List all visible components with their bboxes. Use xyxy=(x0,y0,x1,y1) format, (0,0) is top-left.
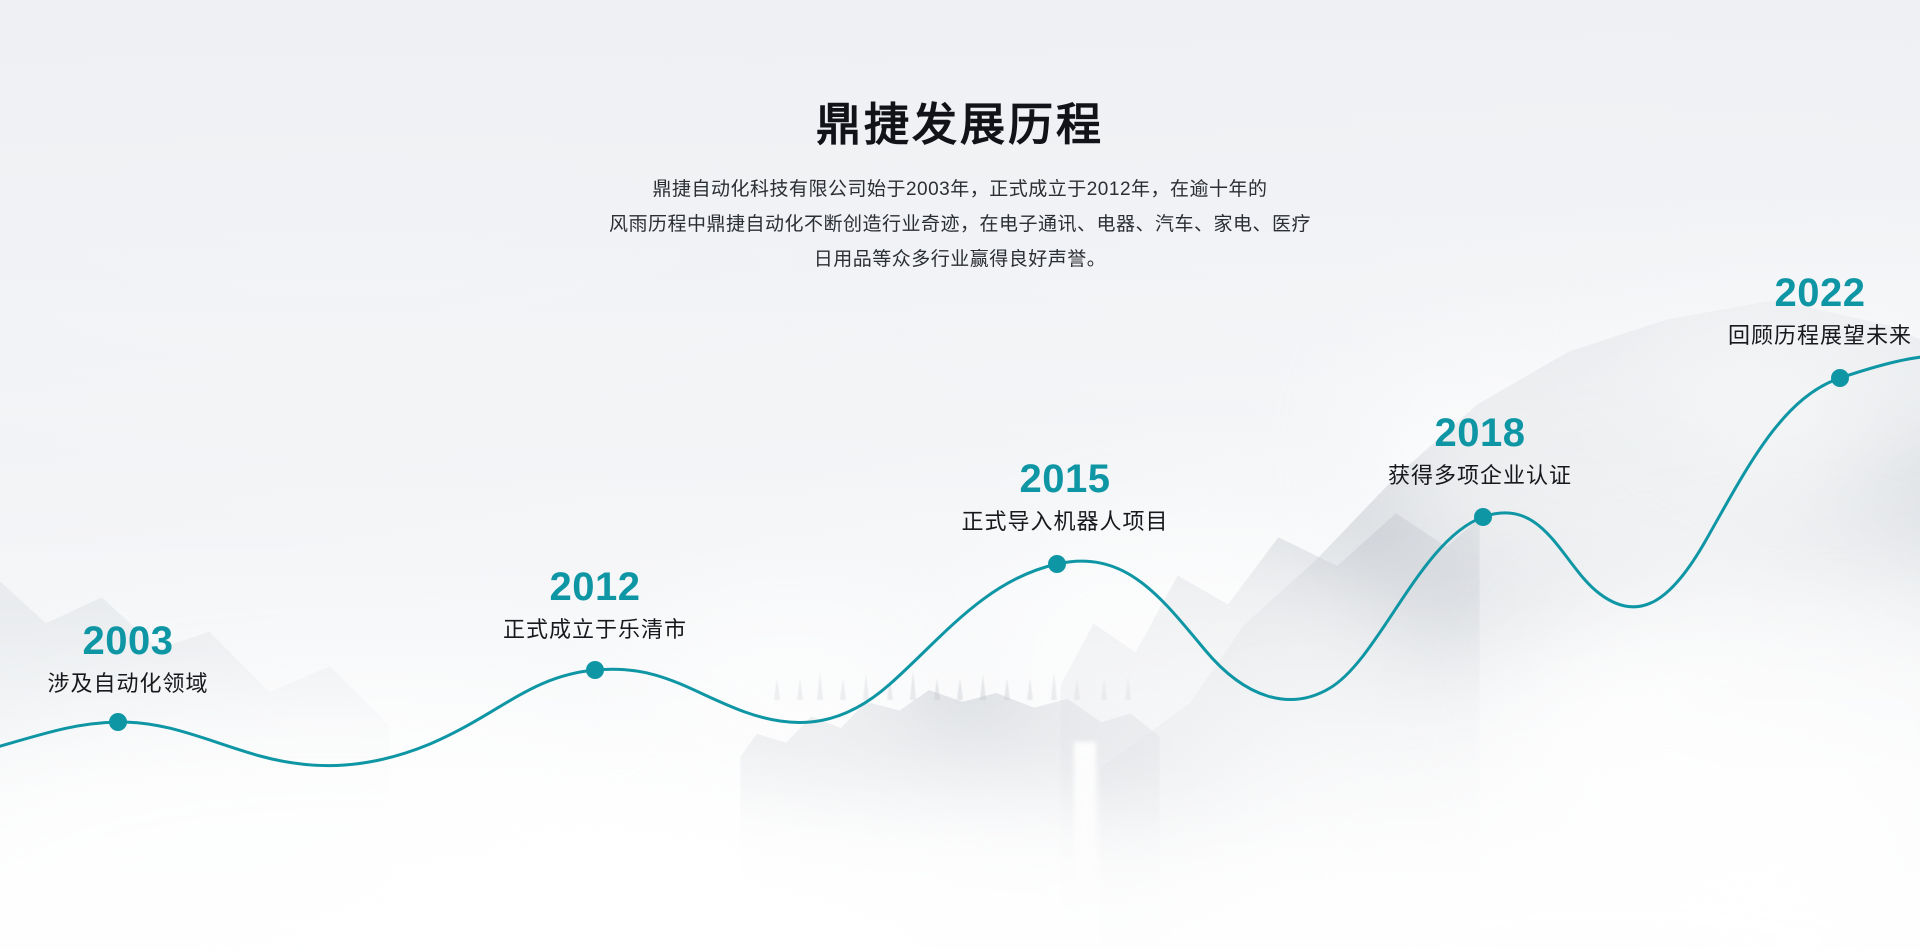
milestone-year: 2012 xyxy=(503,566,687,608)
description-line-1: 鼎捷自动化科技有限公司始于2003年，正式成立于2012年，在逾十年的 xyxy=(0,172,1920,207)
milestone-label: 正式导入机器人项目 xyxy=(961,504,1168,536)
milestone-year: 2003 xyxy=(47,620,208,662)
header: 鼎捷发展历程 鼎捷自动化科技有限公司始于2003年，正式成立于2012年，在逾十… xyxy=(0,100,1920,277)
milestone-year: 2018 xyxy=(1388,412,1572,454)
page-description: 鼎捷自动化科技有限公司始于2003年，正式成立于2012年，在逾十年的 风雨历程… xyxy=(0,172,1920,277)
milestone-label: 正式成立于乐清市 xyxy=(503,612,687,644)
description-line-2: 风雨历程中鼎捷自动化不断创造行业奇迹，在电子通讯、电器、汽车、家电、医疗 xyxy=(0,207,1920,242)
milestone-year: 2015 xyxy=(961,458,1168,500)
milestone-2012[interactable]: 2012正式成立于乐清市 xyxy=(503,566,687,644)
page-title: 鼎捷发展历程 xyxy=(0,100,1920,150)
milestone-2018[interactable]: 2018获得多项企业认证 xyxy=(1388,412,1572,490)
milestone-label: 涉及自动化领域 xyxy=(47,666,208,698)
milestone-year: 2022 xyxy=(1728,272,1912,314)
milestone-label: 回顾历程展望未来 xyxy=(1728,318,1912,350)
milestone-2003[interactable]: 2003涉及自动化领域 xyxy=(47,620,208,698)
milestone-label: 获得多项企业认证 xyxy=(1388,458,1572,490)
description-line-3: 日用品等众多行业赢得良好声誉。 xyxy=(0,242,1920,277)
milestone-2022[interactable]: 2022回顾历程展望未来 xyxy=(1728,272,1912,350)
milestone-2015[interactable]: 2015正式导入机器人项目 xyxy=(961,458,1168,536)
slide-canvas: 鼎捷发展历程 鼎捷自动化科技有限公司始于2003年，正式成立于2012年，在逾十… xyxy=(0,0,1920,950)
